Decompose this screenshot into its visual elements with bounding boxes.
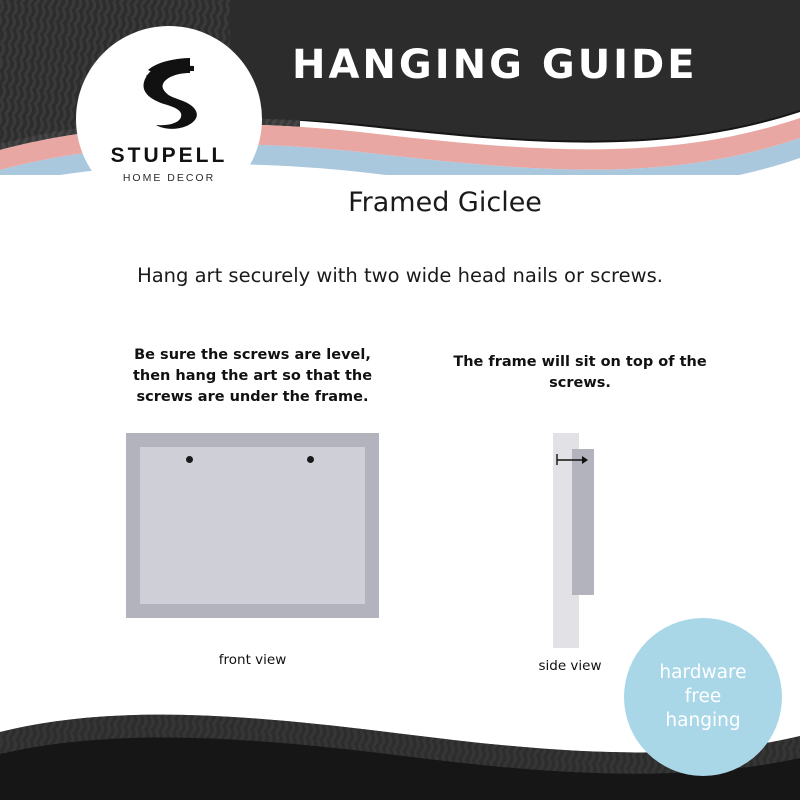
screw-dot-right [307,456,314,463]
side-view-caption: The frame will sit on top of the screws. [450,352,710,394]
hanging-guide-page: STUPELL HOME DECOR HANGING GUIDE Framed … [0,0,800,800]
instruction-text: Hang art securely with two wide head nai… [0,264,800,287]
badge-line-3: hanging [624,709,782,733]
page-title: HANGING GUIDE [292,42,698,88]
front-view-artwork [140,447,365,604]
front-view-caption: Be sure the screws are level, then hang … [120,345,385,408]
logo-subtitle: HOME DECOR [123,172,215,184]
badge-line-1: hardware [624,661,782,685]
front-view-label: front view [126,652,379,668]
logo-name: STUPELL [111,144,228,168]
brand-logo: STUPELL HOME DECOR [76,26,262,212]
badge-line-2: free [624,685,782,709]
screw-arrow-icon [556,452,590,471]
hardware-free-badge: hardware free hanging [624,618,782,776]
screw-dot-left [186,456,193,463]
swoosh-s-logo-icon [126,48,212,138]
front-view-frame [126,433,379,618]
